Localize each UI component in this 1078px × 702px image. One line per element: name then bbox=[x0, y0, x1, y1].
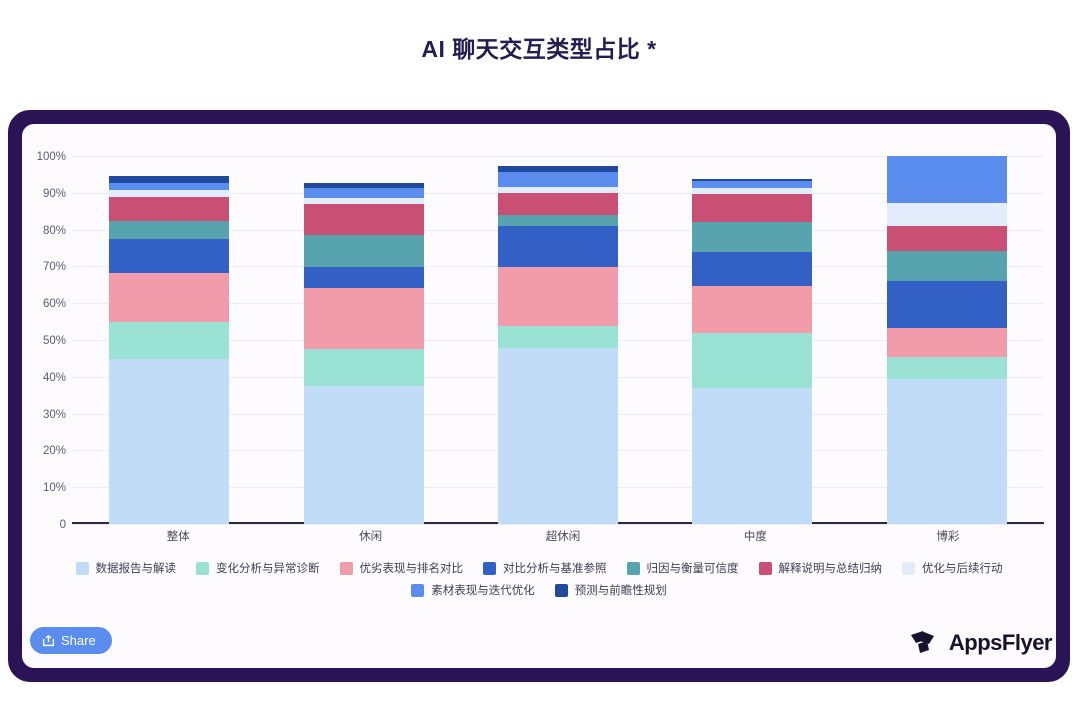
y-axis-tick-label: 20% bbox=[43, 445, 66, 457]
legend-label: 变化分析与异常诊断 bbox=[216, 560, 320, 576]
chart-panel: 010%20%30%40%50%60%70%80%90%100% 整体休闲超休闲… bbox=[22, 124, 1056, 668]
bar-segment[interactable] bbox=[498, 226, 618, 268]
bar-segment[interactable] bbox=[692, 333, 812, 388]
y-axis-tick-label: 100% bbox=[37, 151, 66, 163]
bar-column[interactable] bbox=[461, 156, 655, 524]
bar-segment[interactable] bbox=[109, 176, 229, 183]
bar-group bbox=[72, 156, 1044, 524]
bar-segment[interactable] bbox=[887, 379, 1007, 524]
bar-segment[interactable] bbox=[692, 286, 812, 333]
bar-segment[interactable] bbox=[887, 226, 1007, 250]
bar-segment[interactable] bbox=[887, 203, 1007, 227]
stacked-bar[interactable] bbox=[887, 156, 1007, 524]
bar-segment[interactable] bbox=[887, 156, 1007, 203]
chart-legend: 数据报告与解读变化分析与异常诊断优劣表现与排名对比对比分析与基准参照归因与衡量可… bbox=[22, 560, 1056, 598]
bar-segment[interactable] bbox=[109, 197, 229, 221]
bar-column[interactable] bbox=[266, 156, 460, 524]
legend-swatch bbox=[759, 562, 772, 575]
legend-swatch bbox=[340, 562, 353, 575]
bar-segment[interactable] bbox=[109, 273, 229, 322]
plot-area: 010%20%30%40%50%60%70%80%90%100% 整体休闲超休闲… bbox=[32, 156, 1044, 548]
y-axis-tick-label: 60% bbox=[43, 298, 66, 310]
bar-segment[interactable] bbox=[692, 388, 812, 524]
legend-swatch bbox=[555, 584, 568, 597]
bar-segment[interactable] bbox=[304, 349, 424, 386]
bar-segment[interactable] bbox=[304, 188, 424, 198]
bar-segment[interactable] bbox=[498, 348, 618, 524]
legend-label: 优劣表现与排名对比 bbox=[360, 560, 464, 576]
share-button[interactable]: Share bbox=[30, 627, 112, 654]
bar-segment[interactable] bbox=[304, 288, 424, 349]
y-axis-tick-label: 30% bbox=[43, 409, 66, 421]
stacked-bar[interactable] bbox=[304, 183, 424, 524]
share-box-icon bbox=[42, 634, 55, 647]
stacked-bar[interactable] bbox=[498, 166, 618, 524]
legend-label: 归因与衡量可信度 bbox=[647, 560, 739, 576]
legend-swatch bbox=[76, 562, 89, 575]
bar-segment[interactable] bbox=[498, 326, 618, 348]
bar-segment[interactable] bbox=[109, 221, 229, 239]
bar-segment[interactable] bbox=[109, 239, 229, 273]
legend-label: 数据报告与解读 bbox=[96, 560, 177, 576]
y-axis-tick-label: 80% bbox=[43, 225, 66, 237]
legend-item[interactable]: 优化与后续行动 bbox=[902, 560, 1003, 576]
legend-swatch bbox=[196, 562, 209, 575]
y-axis-tick-label: 10% bbox=[43, 482, 66, 494]
legend-swatch bbox=[627, 562, 640, 575]
bar-segment[interactable] bbox=[304, 267, 424, 288]
legend-label: 素材表现与迭代优化 bbox=[431, 582, 535, 598]
bar-segment[interactable] bbox=[887, 251, 1007, 282]
bar-segment[interactable] bbox=[692, 222, 812, 253]
gridline: 0 bbox=[72, 524, 1044, 525]
legend-swatch bbox=[902, 562, 915, 575]
legend-label: 解释说明与总结归纳 bbox=[779, 560, 883, 576]
bar-column[interactable] bbox=[850, 156, 1044, 524]
legend-item[interactable]: 优劣表现与排名对比 bbox=[340, 560, 464, 576]
x-axis-labels: 整体休闲超休闲中度博彩 bbox=[82, 526, 1044, 548]
share-button-label: Share bbox=[61, 633, 96, 648]
legend-item[interactable]: 归因与衡量可信度 bbox=[627, 560, 739, 576]
bar-segment[interactable] bbox=[498, 187, 618, 194]
bar-segment[interactable] bbox=[498, 267, 618, 326]
y-axis-tick-label: 90% bbox=[43, 188, 66, 200]
legend-label: 优化与后续行动 bbox=[922, 560, 1003, 576]
legend-label: 预测与前瞻性规划 bbox=[575, 582, 667, 598]
bar-segment[interactable] bbox=[692, 181, 812, 188]
bar-segment[interactable] bbox=[692, 194, 812, 221]
brand: AppsFlyer bbox=[910, 630, 1052, 656]
legend-label: 对比分析与基准参照 bbox=[503, 560, 607, 576]
bar-segment[interactable] bbox=[109, 359, 229, 524]
y-axis-tick-label: 70% bbox=[43, 261, 66, 273]
y-axis-tick-label: 40% bbox=[43, 372, 66, 384]
legend-swatch bbox=[483, 562, 496, 575]
appsflyer-logo-icon bbox=[910, 630, 942, 656]
legend-item[interactable]: 对比分析与基准参照 bbox=[483, 560, 607, 576]
bar-segment[interactable] bbox=[692, 188, 812, 195]
bar-segment[interactable] bbox=[304, 204, 424, 235]
x-axis-label: 中度 bbox=[659, 526, 851, 548]
bar-segment[interactable] bbox=[498, 193, 618, 214]
brand-name: AppsFlyer bbox=[949, 630, 1052, 656]
bar-segment[interactable] bbox=[887, 328, 1007, 357]
x-axis-label: 休闲 bbox=[274, 526, 466, 548]
bar-segment[interactable] bbox=[887, 357, 1007, 379]
x-axis-label: 超休闲 bbox=[467, 526, 659, 548]
y-axis-tick-label: 50% bbox=[43, 335, 66, 347]
chart-card: 010%20%30%40%50%60%70%80%90%100% 整体休闲超休闲… bbox=[8, 110, 1070, 682]
bar-column[interactable] bbox=[72, 156, 266, 524]
page-title: AI 聊天交互类型占比 * bbox=[0, 0, 1078, 78]
legend-swatch bbox=[411, 584, 424, 597]
bar-segment[interactable] bbox=[887, 281, 1007, 328]
legend-item[interactable]: 预测与前瞻性规划 bbox=[555, 582, 667, 598]
bar-column[interactable] bbox=[655, 156, 849, 524]
y-axis-tick-label: 0 bbox=[60, 519, 66, 531]
bar-segment[interactable] bbox=[109, 183, 229, 190]
bar-segment[interactable] bbox=[498, 215, 618, 226]
stacked-bar[interactable] bbox=[109, 176, 229, 524]
x-axis-label: 整体 bbox=[82, 526, 274, 548]
legend-item[interactable]: 变化分析与异常诊断 bbox=[196, 560, 320, 576]
bar-segment[interactable] bbox=[304, 235, 424, 267]
bar-segment[interactable] bbox=[304, 386, 424, 524]
legend-item[interactable]: 素材表现与迭代优化 bbox=[411, 582, 535, 598]
bar-segment[interactable] bbox=[692, 252, 812, 285]
stacked-bar[interactable] bbox=[692, 179, 812, 524]
x-axis-label: 博彩 bbox=[852, 526, 1044, 548]
bar-segment[interactable] bbox=[498, 172, 618, 187]
legend-item[interactable]: 解释说明与总结归纳 bbox=[759, 560, 883, 576]
legend-item[interactable]: 数据报告与解读 bbox=[76, 560, 177, 576]
bar-segment[interactable] bbox=[109, 322, 229, 359]
